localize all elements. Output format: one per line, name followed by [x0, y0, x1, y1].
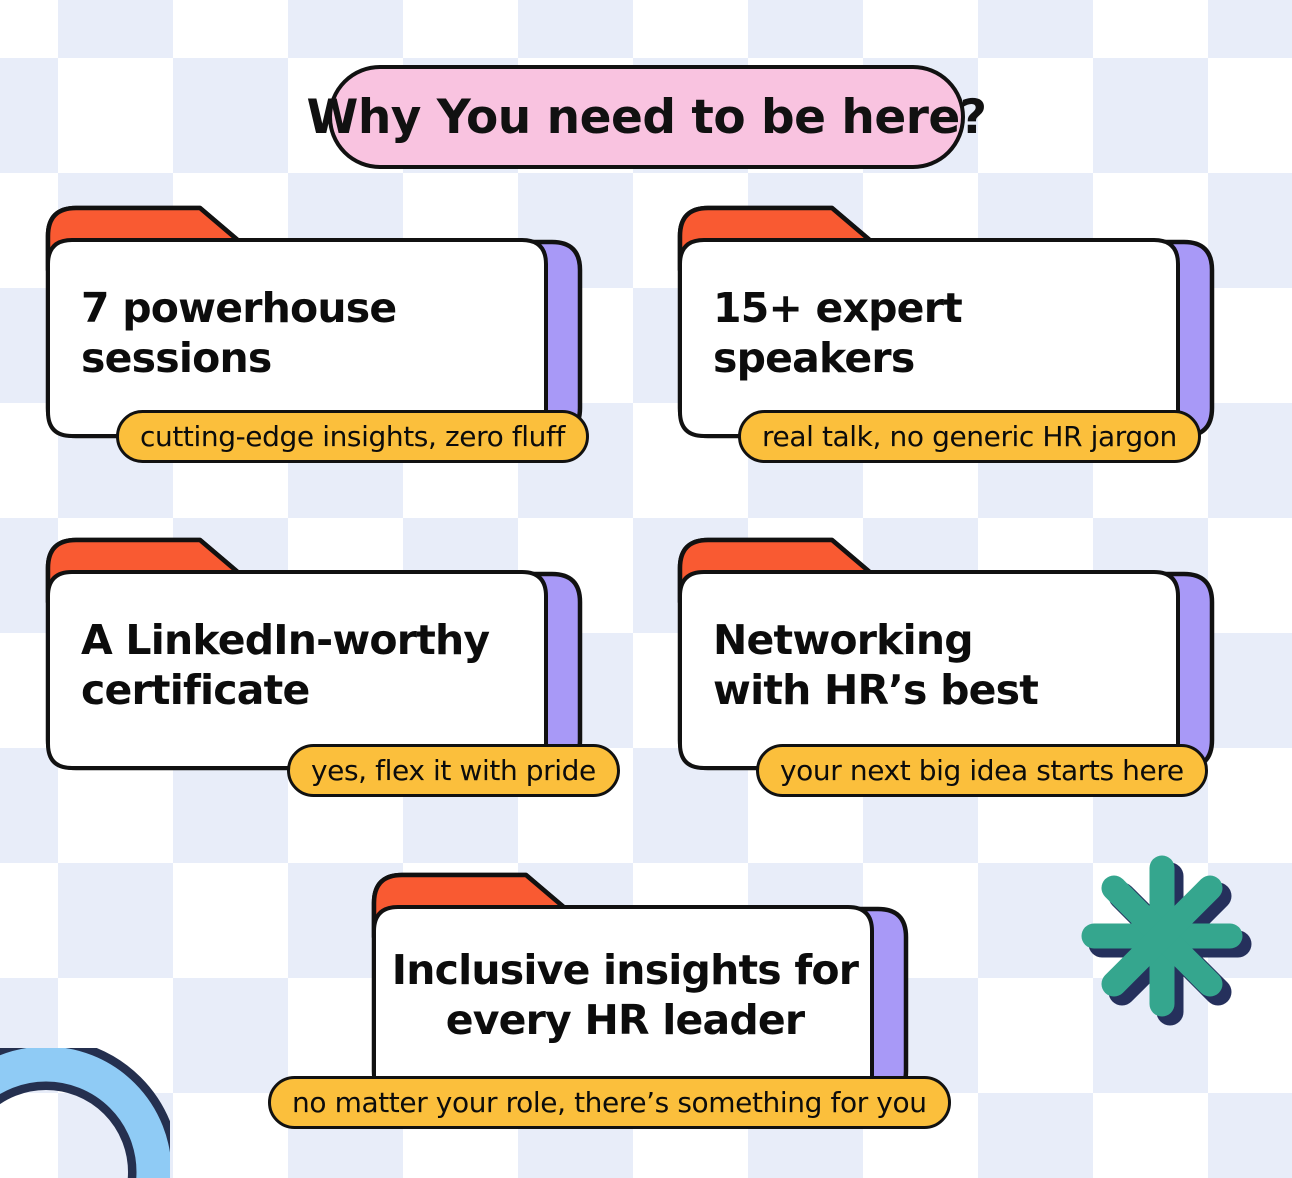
card-badge-speakers: real talk, no generic HR jargon: [738, 410, 1201, 463]
page-title: Why You need to be here?: [307, 94, 987, 141]
poster-canvas: Why You need to be here? 7 powerhouse se…: [0, 0, 1292, 1178]
card-title: Inclusive insights for every HR leader: [370, 945, 880, 1045]
card-badge-label: real talk, no generic HR jargon: [762, 423, 1177, 451]
page-title-pill: Why You need to be here?: [328, 65, 965, 169]
card-title: 7 powerhouse sessions: [81, 283, 396, 383]
card-badge-label: no matter your role, there’s something f…: [292, 1089, 927, 1117]
card-badge-certificate: yes, flex it with pride: [287, 744, 620, 797]
folder-card-networking[interactable]: Networking with HR’s best: [676, 532, 1216, 777]
card-badge-label: your next big idea starts here: [780, 757, 1184, 785]
card-badge-networking: your next big idea starts here: [756, 744, 1208, 797]
folder-card-inclusive[interactable]: Inclusive insights for every HR leader: [370, 867, 910, 1107]
asterisk-star-decoration: [1078, 852, 1262, 1036]
folder-card-sessions[interactable]: 7 powerhouse sessions: [44, 200, 584, 445]
card-title: A LinkedIn-worthy certificate: [81, 615, 489, 715]
card-badge-sessions: cutting-edge insights, zero fluff: [116, 410, 589, 463]
card-badge-label: cutting-edge insights, zero fluff: [140, 423, 565, 451]
folder-card-speakers[interactable]: 15+ expert speakers: [676, 200, 1216, 445]
card-badge-inclusive: no matter your role, there’s something f…: [268, 1076, 951, 1129]
card-title: Networking with HR’s best: [713, 615, 1038, 715]
card-badge-label: yes, flex it with pride: [311, 757, 596, 785]
folder-card-certificate[interactable]: A LinkedIn-worthy certificate: [44, 532, 584, 777]
circle-ring-decoration: [0, 1048, 170, 1178]
card-title: 15+ expert speakers: [713, 283, 962, 383]
